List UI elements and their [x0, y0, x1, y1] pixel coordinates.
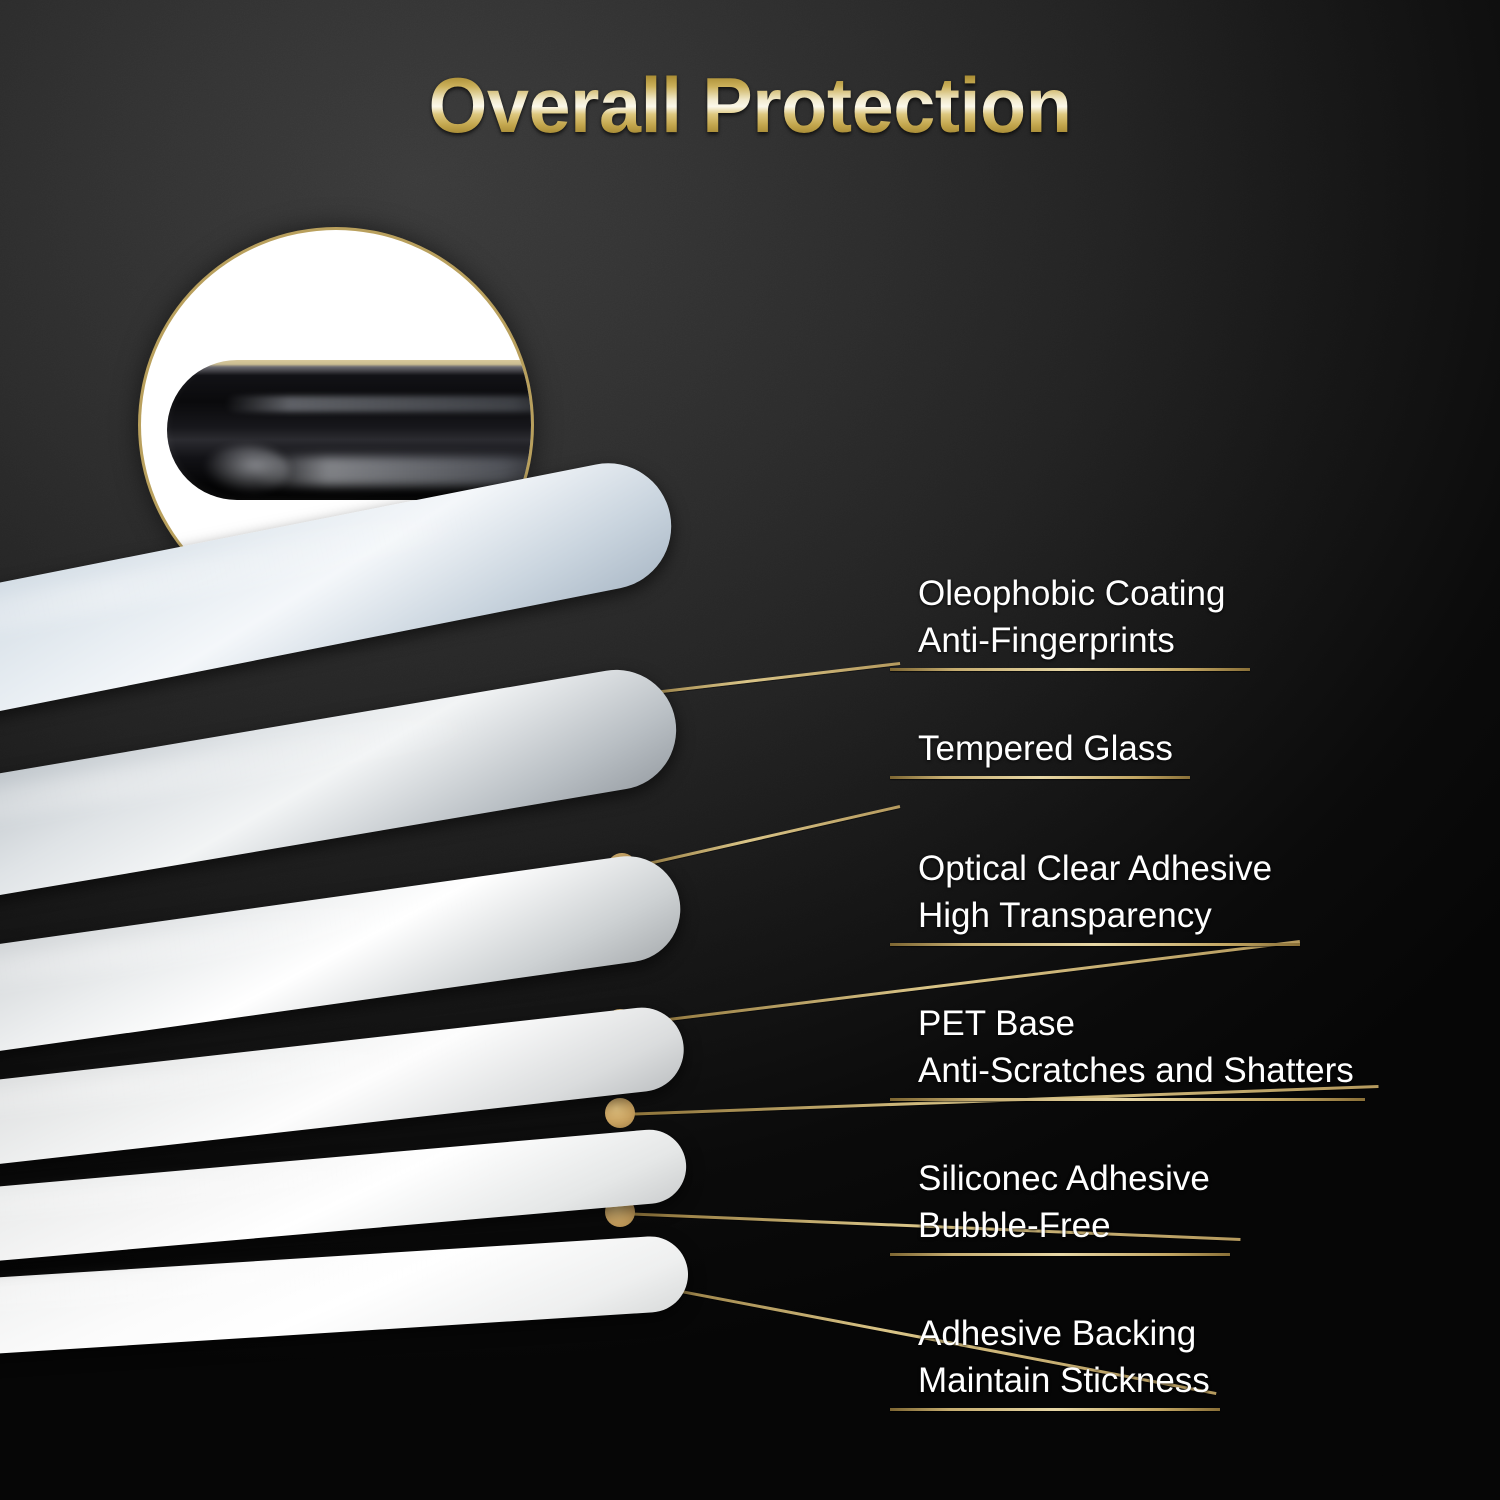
callout-underline-6 — [890, 1408, 1220, 1411]
edge-highlight-round — [203, 446, 289, 494]
callout-label-6: Adhesive BackingMaintain Stickness — [918, 1310, 1210, 1404]
callout-label-4: PET BaseAnti-Scratches and Shatters — [918, 1000, 1354, 1094]
callout-label-5: Siliconec AdhesiveBubble-Free — [918, 1155, 1210, 1249]
callout-label-line1: PET Base — [918, 1000, 1354, 1047]
infographic-canvas: Overall Protection 2.5D Curved-Edge Oleo… — [0, 0, 1500, 1500]
callout-underline-4 — [890, 1098, 1365, 1101]
sheet-gloss — [0, 1255, 499, 1322]
curved-edge-cross-section-icon — [167, 360, 531, 500]
callout-underline-2 — [890, 776, 1190, 779]
callout-label-line2: High Transparency — [918, 892, 1272, 939]
layer-stack — [0, 600, 820, 1400]
callout-label-line2: Bubble-Free — [918, 1202, 1210, 1249]
callout-underline-5 — [890, 1253, 1230, 1256]
page-title: Overall Protection — [23, 66, 1478, 144]
callout-underline-1 — [890, 668, 1250, 671]
callout-label-line1: Adhesive Backing — [918, 1310, 1210, 1357]
sheet-gloss — [0, 888, 491, 1020]
edge-highlight-top — [225, 396, 531, 412]
sheet-gloss — [0, 1152, 497, 1237]
callout-label-1: Oleophobic CoatingAnti-Fingerprints — [918, 570, 1225, 664]
callout-label-line2: Anti-Scratches and Shatters — [918, 1047, 1354, 1094]
callout-label-line1: Optical Clear Adhesive — [918, 845, 1272, 892]
edge-highlight-bottom — [255, 456, 531, 486]
callout-label-line2: Maintain Stickness — [918, 1357, 1210, 1404]
callout-label-2: Tempered Glass — [918, 725, 1173, 772]
callout-underline-3 — [890, 943, 1300, 946]
adhesive-backing-layer — [0, 1234, 690, 1376]
callout-label-line2: Anti-Fingerprints — [918, 617, 1225, 664]
connector-dot-4 — [605, 1098, 635, 1128]
callout-label-3: Optical Clear AdhesiveHigh Transparency — [918, 845, 1272, 939]
callout-label-line1: Siliconec Adhesive — [918, 1155, 1210, 1202]
sheet-gloss — [0, 706, 487, 863]
callout-label-line1: Oleophobic Coating — [918, 570, 1225, 617]
sheet-gloss — [0, 1034, 495, 1140]
callout-label-line1: Tempered Glass — [918, 725, 1173, 772]
